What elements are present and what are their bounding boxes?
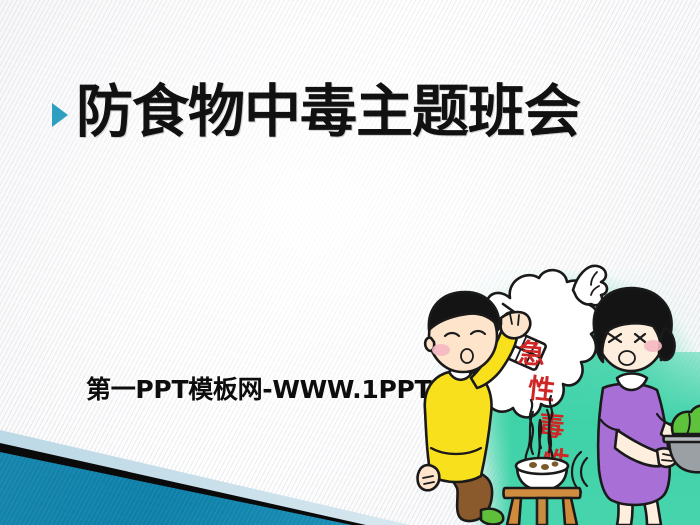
food-poisoning-illustration: .ol { stroke:#1a1a1a; stroke-width:2.6; … (415, 262, 700, 525)
slide-title-row: 防食物中毒主题班会 (52, 84, 580, 141)
slide-canvas: 防食物中毒主题班会 第一PPT模板网-WWW.1PPT.COM .ol { st… (0, 0, 700, 525)
page-title: 防食物中毒主题班会 (76, 84, 580, 141)
cartoon-figures-svg: .ol { stroke:#1a1a1a; stroke-width:2.6; … (415, 262, 700, 525)
svg-text:急: 急 (517, 337, 546, 371)
triangle-right-icon (52, 103, 68, 127)
